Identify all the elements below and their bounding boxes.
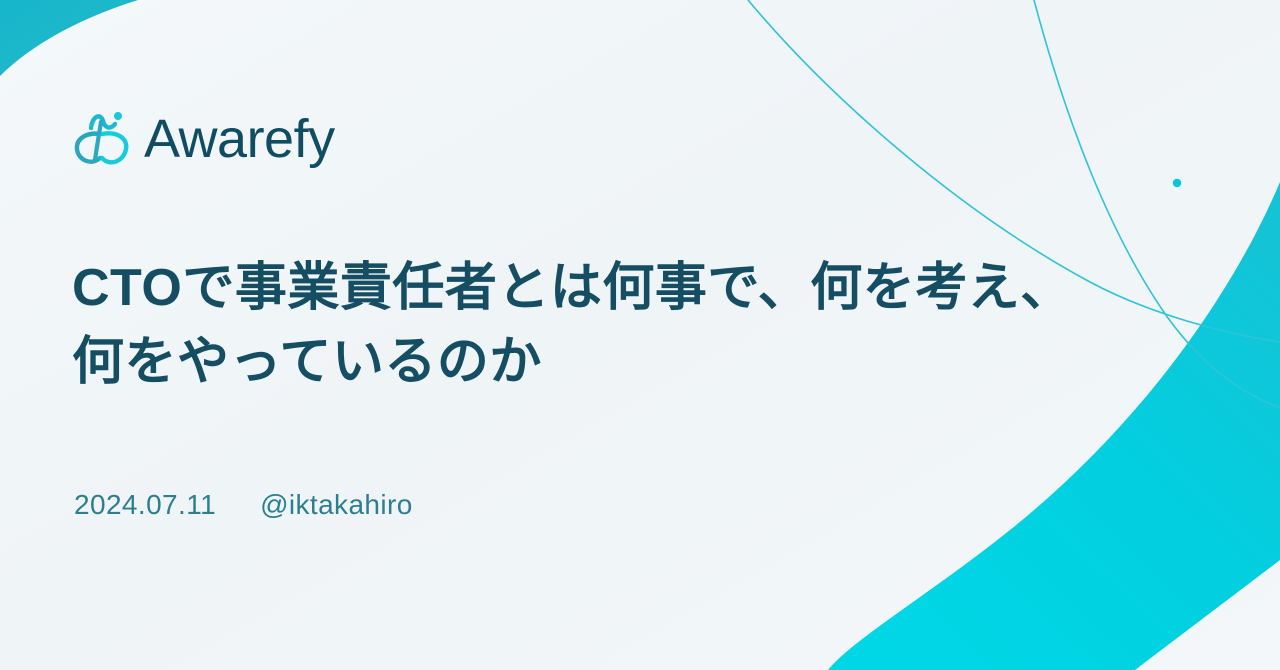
page-title-line-2: 何をやっているのか <box>72 326 1162 400</box>
author-handle: @iktakahiro <box>260 489 413 521</box>
small-cyan-dot <box>1173 179 1181 187</box>
top-left-cyan-corner-arc <box>0 0 138 76</box>
publish-date: 2024.07.11 <box>74 489 216 521</box>
brand-name: Awarefy <box>144 112 335 166</box>
page-title: CTOで事業責任者とは何事で、何を考え、 何をやっているのか <box>72 252 1162 400</box>
brand-lockup: Awarefy <box>74 108 335 170</box>
title-slide: Awarefy CTOで事業責任者とは何事で、何を考え、 何をやっているのか 2… <box>0 0 1280 670</box>
page-title-line-1: CTOで事業責任者とは何事で、何を考え、 <box>72 252 1162 326</box>
slide-meta: 2024.07.11 @iktakahiro <box>74 489 413 521</box>
awarefy-butterfly-logo-icon <box>74 108 130 170</box>
